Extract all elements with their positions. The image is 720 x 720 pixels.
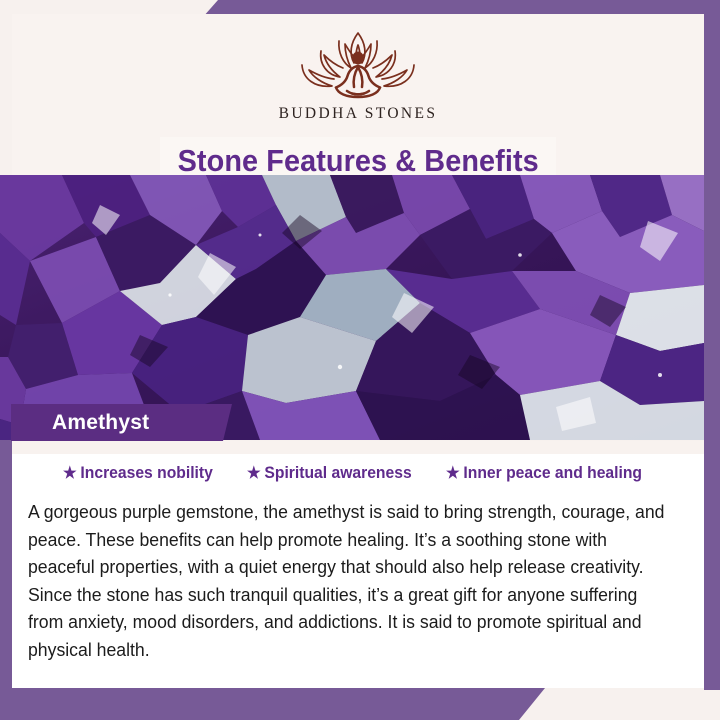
right-accent-bar (704, 0, 720, 440)
benefit-item: ★ Spiritual awareness (247, 464, 412, 483)
stone-description: A gorgeous purple gemstone, the amethyst… (28, 499, 666, 664)
page-title: Stone Features & Benefits (177, 143, 538, 179)
stone-name-banner: Amethyst (11, 404, 232, 441)
benefit-item: ★ Inner peace and healing (446, 464, 642, 483)
stone-name: Amethyst (52, 411, 149, 435)
star-icon: ★ (247, 466, 261, 482)
right-lower-accent-bar (704, 440, 720, 690)
benefits-row: ★ Increases nobility ★ Spiritual awarene… (12, 464, 704, 483)
benefit-label: Inner peace and healing (464, 464, 643, 483)
stone-photo (0, 175, 704, 440)
bottom-accent-bar (0, 688, 545, 720)
brand-name: BUDDHA STONES (279, 105, 438, 123)
brand-logo: BUDDHA STONES (12, 28, 704, 123)
amethyst-crystal-cluster-illustration (0, 175, 704, 440)
content-card: ★ Increases nobility ★ Spiritual awarene… (12, 441, 704, 688)
benefit-label: Increases nobility (81, 464, 213, 483)
benefit-item: ★ Increases nobility (63, 464, 213, 483)
infographic-page: BUDDHA STONES Stone Features & Benefits (0, 0, 720, 720)
left-accent-bar (0, 440, 12, 690)
star-icon: ★ (63, 466, 77, 482)
card-top-tint (12, 441, 704, 454)
benefit-label: Spiritual awareness (264, 464, 411, 483)
header: BUDDHA STONES Stone Features & Benefits (12, 14, 704, 175)
star-icon: ★ (446, 466, 460, 482)
lotus-meditation-icon (284, 28, 432, 100)
